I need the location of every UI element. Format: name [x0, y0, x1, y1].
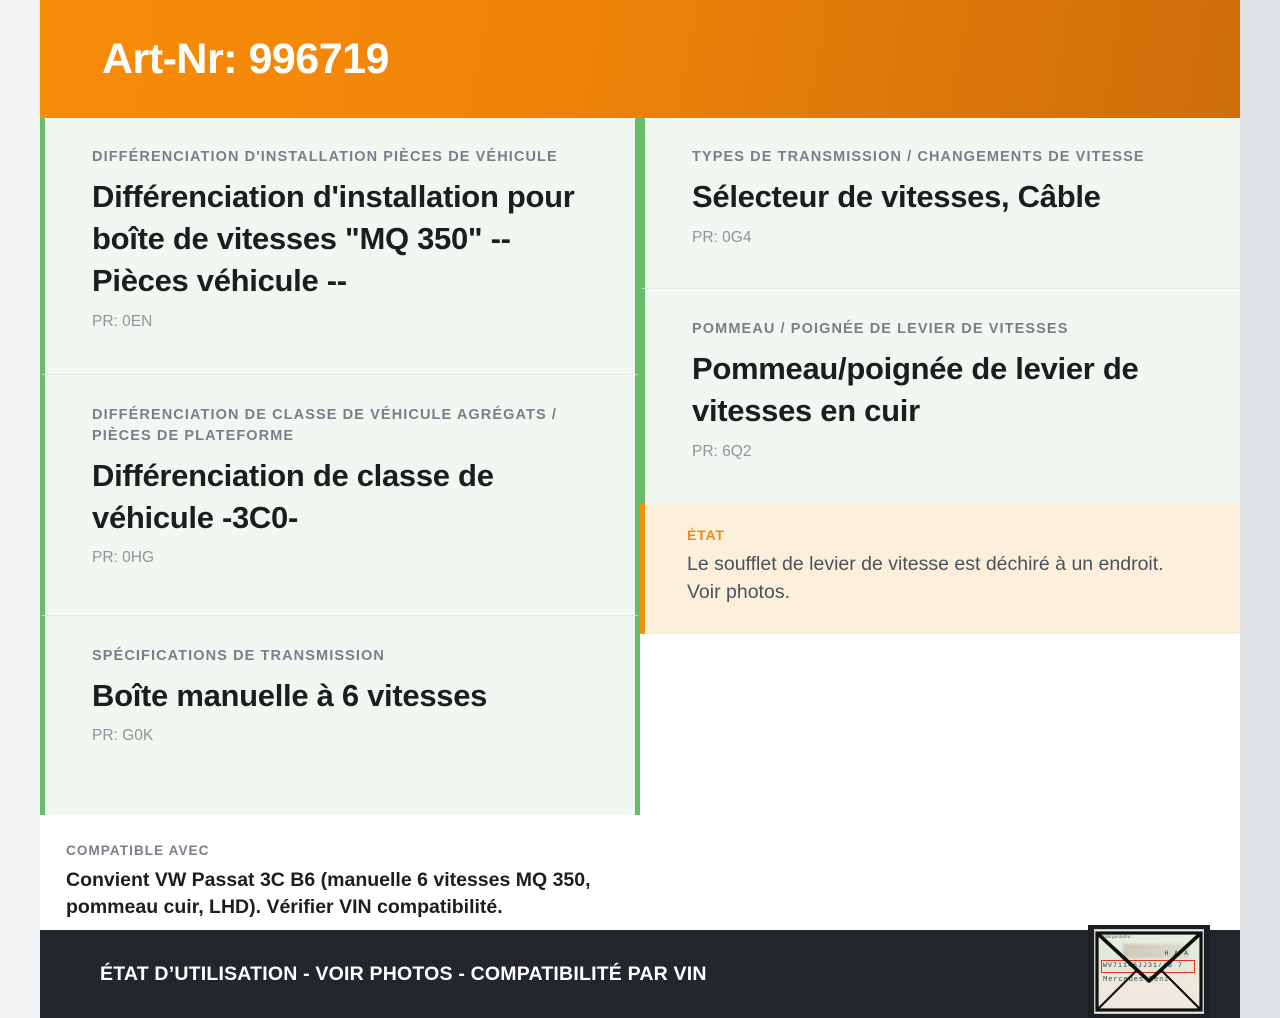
spec-card[interactable]: DIFFÉRENCIATION DE CLASSE DE VÉHICULE AG… — [40, 374, 640, 615]
right-column-filler — [640, 634, 1240, 918]
footer-banner: ÉTAT D’UTILISATION - VOIR PHOTOS - COMPA… — [40, 930, 1240, 1018]
spec-card-title: Sélecteur de vitesses, Câble — [692, 176, 1194, 218]
spec-card[interactable]: TYPES DE TRANSMISSION / CHANGEMENTS DE V… — [640, 118, 1240, 288]
compatibility-label: COMPATIBLE AVEC — [66, 843, 594, 858]
vin-document-thumbnail[interactable]: Fahrgestellnr. H A/A WV71146JJ31/4B 7 Me… — [1088, 925, 1210, 1018]
spec-card-label: SPÉCIFICATIONS DE TRANSMISSION — [92, 646, 589, 667]
spec-card-label: TYPES DE TRANSMISSION / CHANGEMENTS DE V… — [692, 147, 1194, 168]
spec-columns: DIFFÉRENCIATION D'INSTALLATION PIÈCES DE… — [40, 118, 1240, 930]
footer-text: ÉTAT D’UTILISATION - VOIR PHOTOS - COMPA… — [100, 963, 707, 986]
spec-card-title: Différenciation d'installation pour boît… — [92, 176, 589, 302]
spec-card-title: Boîte manuelle à 6 vitesses — [92, 675, 589, 717]
spec-card-pr-code: PR: G0K — [92, 726, 589, 746]
spec-card-pr-code: PR: 0HG — [92, 548, 589, 568]
right-column: TYPES DE TRANSMISSION / CHANGEMENTS DE V… — [640, 118, 1240, 918]
left-column: DIFFÉRENCIATION D'INSTALLATION PIÈCES DE… — [40, 118, 640, 952]
page-title: Art-Nr: 996719 — [102, 38, 389, 81]
envelope-icon — [1094, 929, 1204, 1014]
condition-label: ÉTAT — [687, 527, 1194, 543]
header-banner: Art-Nr: 996719 — [40, 0, 1240, 118]
spec-card-label: DIFFÉRENCIATION D'INSTALLATION PIÈCES DE… — [92, 147, 589, 168]
condition-notice: ÉTAT Le soufflet de levier de vitesse es… — [640, 504, 1240, 634]
spec-card-pr-code: PR: 0EN — [92, 312, 589, 332]
condition-text: Le soufflet de levier de vitesse est déc… — [687, 551, 1194, 606]
compatibility-text: Convient VW Passat 3C B6 (manuelle 6 vit… — [66, 867, 594, 922]
spec-card[interactable]: DIFFÉRENCIATION D'INSTALLATION PIÈCES DE… — [40, 118, 640, 374]
spec-card-pr-code: PR: 0G4 — [692, 228, 1194, 248]
product-info-page: Art-Nr: 996719 DIFFÉRENCIATION D'INSTALL… — [40, 0, 1240, 1018]
spec-card-title: Pommeau/poignée de levier de vitesses en… — [692, 348, 1194, 432]
spec-card-title: Différenciation de classe de véhicule -3… — [92, 455, 589, 539]
spec-card[interactable]: SPÉCIFICATIONS DE TRANSMISSION Boîte man… — [40, 615, 640, 815]
spec-card-label: DIFFÉRENCIATION DE CLASSE DE VÉHICULE AG… — [92, 405, 589, 447]
spec-card-label: POMMEAU / POIGNÉE DE LEVIER DE VITESSES — [692, 319, 1194, 340]
spec-card-pr-code: PR: 6Q2 — [692, 442, 1194, 462]
spec-card[interactable]: POMMEAU / POIGNÉE DE LEVIER DE VITESSES … — [640, 288, 1240, 504]
